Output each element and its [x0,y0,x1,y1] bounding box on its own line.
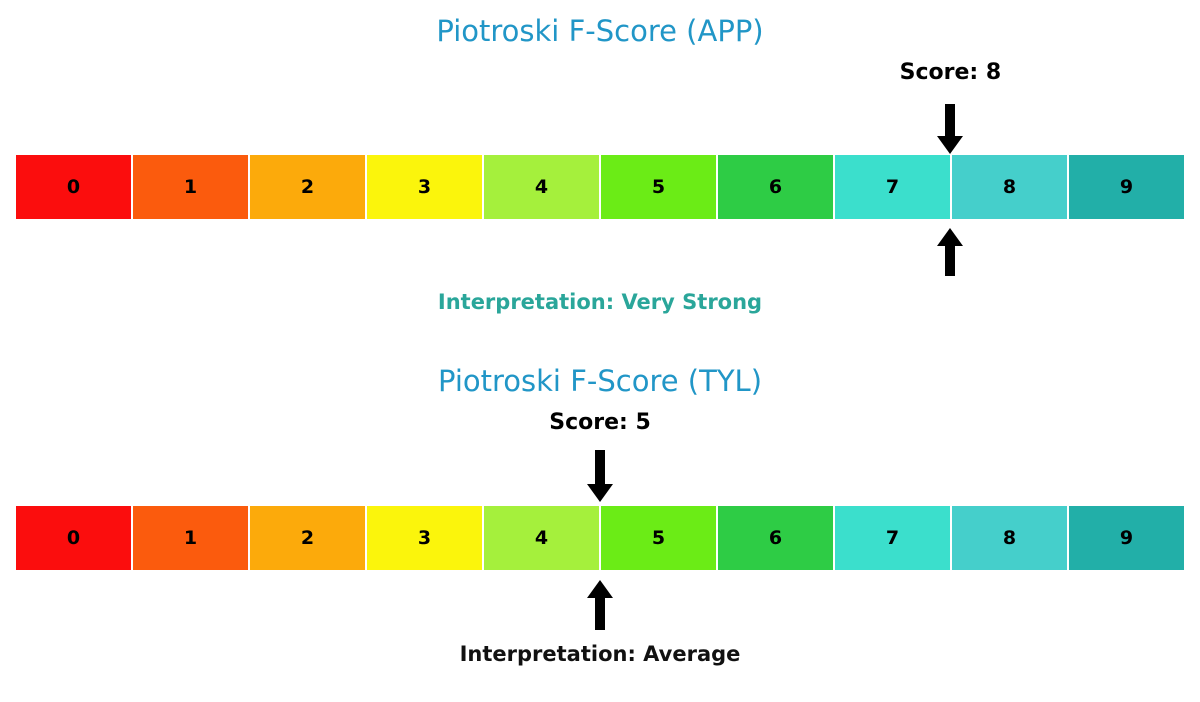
score-marker-arrow-up-app [937,228,963,276]
scale-cell[interactable]: 5 [601,506,716,570]
interpretation-app: Interpretation: Very Strong [0,290,1200,314]
scale-cell[interactable]: 9 [1069,155,1184,219]
score-label-app: Score: 8 [900,60,1002,85]
scale-cell[interactable]: 0 [16,155,131,219]
scale-cell[interactable]: 2 [250,155,365,219]
scale-cell[interactable]: 1 [133,506,248,570]
fscore-chart-tyl: Piotroski F-Score (TYL) Score: 5 0 1 2 3… [0,350,1200,702]
chart-title-tyl: Piotroski F-Score (TYL) [0,364,1200,398]
scale-cell[interactable]: 8 [952,506,1067,570]
scale-cell[interactable]: 6 [718,155,833,219]
score-marker-arrow-down-tyl [587,450,613,502]
scale-cell[interactable]: 4 [484,155,599,219]
scale-cell[interactable]: 0 [16,506,131,570]
scale-cell[interactable]: 1 [133,155,248,219]
scale-cell[interactable]: 6 [718,506,833,570]
fscore-chart-app: Piotroski F-Score (APP) Score: 8 0 1 2 3… [0,0,1200,340]
score-scale-bar-app: 0 1 2 3 4 5 6 7 8 9 [16,155,1184,219]
scale-cell[interactable]: 7 [835,506,950,570]
score-marker-arrow-up-tyl [587,580,613,630]
scale-cell[interactable]: 5 [601,155,716,219]
score-scale-bar-tyl: 0 1 2 3 4 5 6 7 8 9 [16,506,1184,570]
interpretation-tyl: Interpretation: Average [0,642,1200,666]
score-marker-arrow-down-app [937,104,963,154]
scale-cell[interactable]: 3 [367,506,482,570]
scale-cell[interactable]: 2 [250,506,365,570]
scale-cell[interactable]: 8 [952,155,1067,219]
scale-cell[interactable]: 3 [367,155,482,219]
score-label-tyl: Score: 5 [549,410,651,435]
chart-title-app: Piotroski F-Score (APP) [0,14,1200,48]
scale-cell[interactable]: 4 [484,506,599,570]
scale-cell[interactable]: 7 [835,155,950,219]
scale-cell[interactable]: 9 [1069,506,1184,570]
